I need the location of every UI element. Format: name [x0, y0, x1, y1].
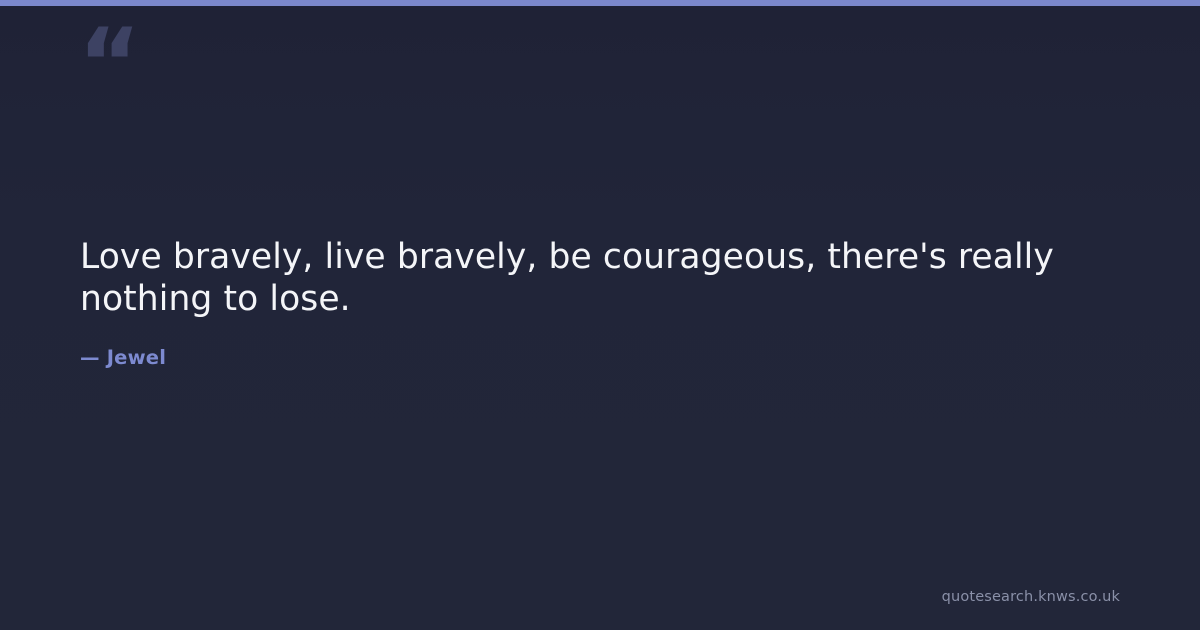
top-accent-bar — [0, 0, 1200, 6]
attribution-author: Jewel — [107, 346, 166, 369]
quote-block: Love bravely, live bravely, be courageou… — [80, 236, 1090, 370]
quote-card: “ Love bravely, live bravely, be courage… — [0, 0, 1200, 630]
attribution-dash: — — [80, 346, 107, 370]
quote-text: Love bravely, live bravely, be courageou… — [80, 236, 1090, 320]
opening-quote-mark-icon: “ — [78, 16, 148, 96]
quote-attribution: —Jewel — [80, 320, 1090, 370]
site-watermark: quotesearch.knws.co.uk — [942, 588, 1120, 606]
